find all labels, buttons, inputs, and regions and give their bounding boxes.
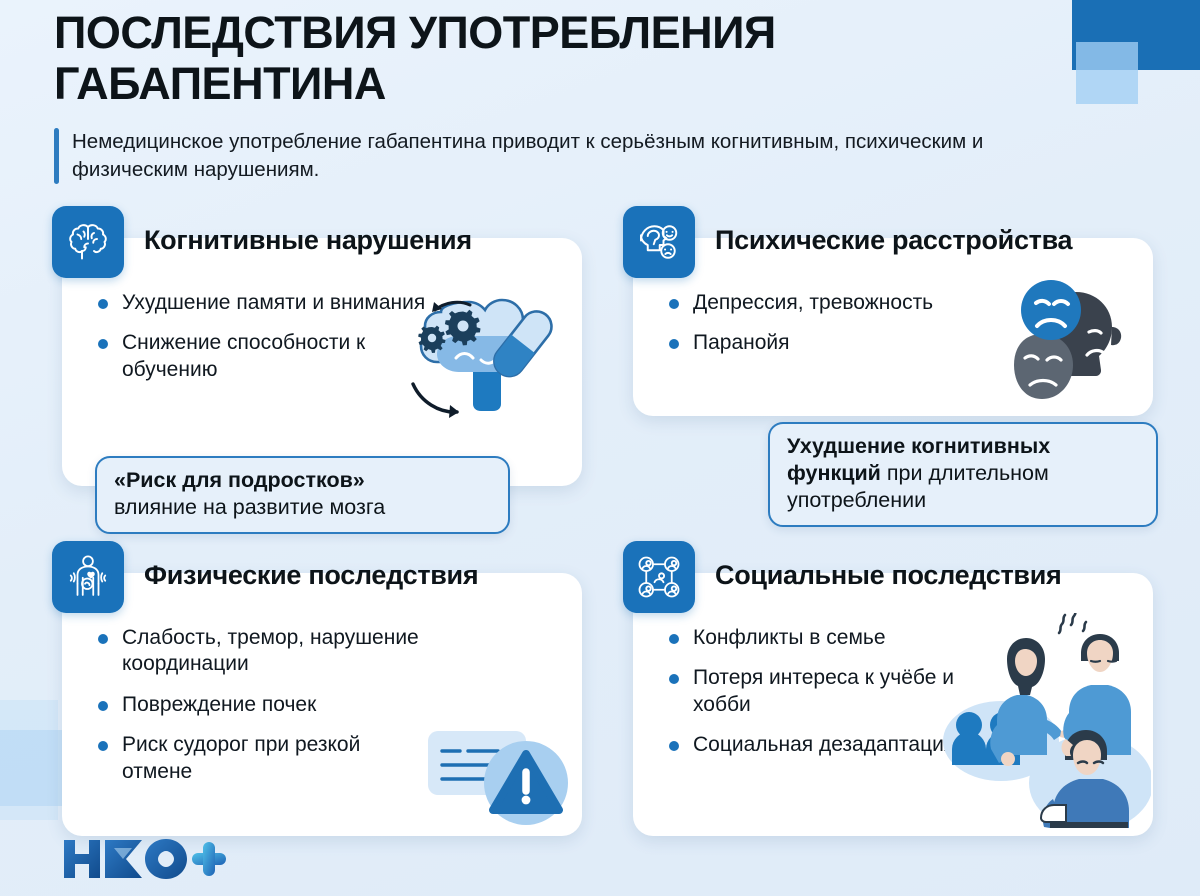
- callout-teen-risk-text: влияние на развитие мозга: [114, 494, 491, 521]
- brain-with-gears-illustration: [401, 280, 586, 435]
- decorative-square-light-blue-top-right: [1076, 42, 1138, 104]
- card-physical: Физические последствия Слабость, тремор,…: [62, 573, 582, 836]
- card-social-heading: Социальные последствия: [715, 560, 1061, 591]
- human-body-icon: [52, 541, 124, 613]
- decorative-square-dark-blue: [1072, 0, 1200, 70]
- card-social: Социальные последствия Конфликты в семье…: [633, 573, 1153, 836]
- card-cognitive-bullets: Ухудшение памяти и внимания Снижение спо…: [96, 290, 426, 397]
- list-item: Слабость, тремор, нарушение координации: [96, 625, 426, 678]
- card-mental-bullets: Депрессия, тревожность Паранойя: [667, 290, 997, 371]
- head-with-emotions-icon: [623, 206, 695, 278]
- callout-teen-risk-bold: «Риск для подростков»: [114, 467, 491, 494]
- card-physical-heading: Физические последствия: [144, 560, 478, 591]
- card-cognitive: Когнитивные нарушения Ухудшение памяти и…: [62, 238, 582, 486]
- logo-neo-plus: [58, 834, 228, 884]
- people-network-icon: [623, 541, 695, 613]
- list-item: Паранойя: [667, 330, 997, 356]
- card-social-bullets: Конфликты в семье Потеря интереса к учёб…: [667, 625, 997, 773]
- callout-long-term-use: Ухудшение когнитивных функций при длител…: [768, 422, 1158, 527]
- sad-faces-masks-illustration: [1014, 276, 1149, 411]
- card-cognitive-heading: Когнитивные нарушения: [144, 225, 472, 256]
- card-physical-bullets: Слабость, тремор, нарушение координации …: [96, 625, 426, 799]
- subtitle-accent-bar: [54, 128, 59, 185]
- warning-triangle-illustration: [428, 721, 568, 826]
- list-item: Депрессия, тревожность: [667, 290, 997, 316]
- list-item: Риск судорог при резкой отмене: [96, 732, 426, 785]
- subtitle-block: Немедицинское употребление габапентина п…: [54, 128, 1054, 185]
- brain-icon: [52, 206, 124, 278]
- subtitle-text: Немедицинское употребление габапентина п…: [72, 128, 1007, 185]
- decorative-square-light-blue-bottom-left-tall: [0, 700, 58, 820]
- list-item: Повреждение почек: [96, 692, 426, 718]
- card-mental-heading: Психические расстройства: [715, 225, 1072, 256]
- list-item: Ухудшение памяти и внимания: [96, 290, 426, 316]
- page-title: ПОСЛЕДСТВИЯ УПОТРЕБЛЕНИЯ ГАБАПЕНТИНА: [54, 8, 814, 110]
- list-item: Потеря интереса к учёбе и хобби: [667, 665, 997, 718]
- header: ПОСЛЕДСТВИЯ УПОТРЕБЛЕНИЯ ГАБАПЕНТИНА Нем…: [54, 8, 1054, 184]
- list-item: Конфликты в семье: [667, 625, 997, 651]
- callout-teen-risk: «Риск для подростков» влияние на развити…: [95, 456, 510, 534]
- list-item: Социальная дезадаптация: [667, 732, 997, 758]
- card-mental: Психические расстройства Депрессия, трев…: [633, 238, 1153, 416]
- list-item: Снижение способности к обучению: [96, 330, 426, 383]
